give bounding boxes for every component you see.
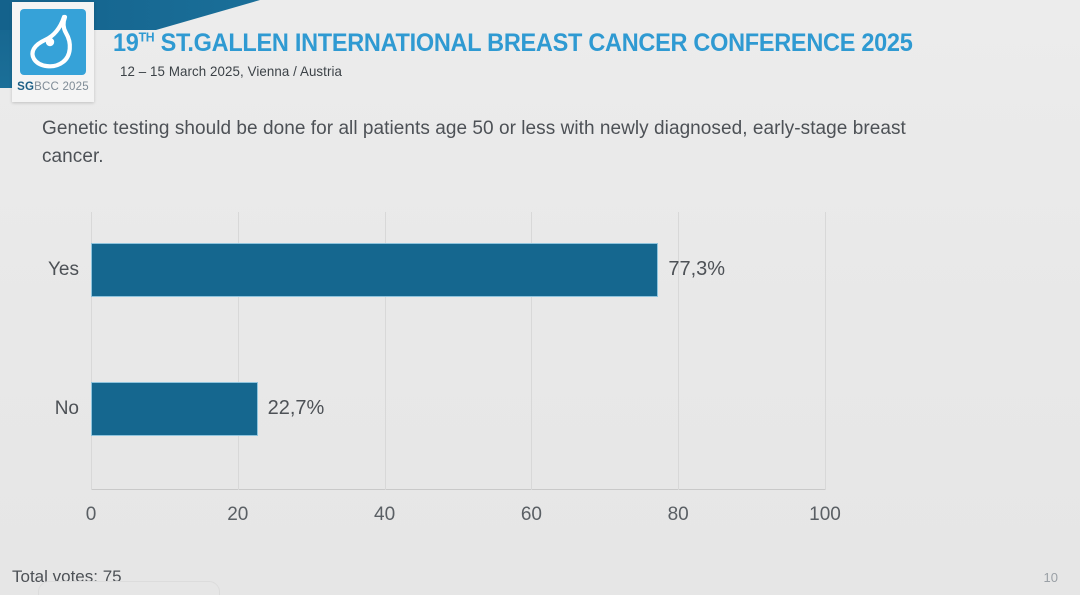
page-number: 10 [1044, 570, 1058, 585]
category-label-no: No [0, 382, 79, 436]
conference-title-rest: ST.GALLEN INTERNATIONAL BREAST CANCER CO… [154, 29, 912, 57]
x-tick-label: 40 [374, 504, 395, 526]
conference-logo: SGBCC 2025 [12, 2, 94, 102]
conference-title-number: 19 [113, 29, 139, 57]
logo-wordmark-rest: BCC 2025 [34, 81, 89, 93]
conference-title-ordinal: TH [139, 30, 155, 45]
x-tick-label: 0 [86, 504, 97, 526]
x-tick-label: 20 [227, 504, 248, 526]
x-tick-label: 80 [668, 504, 689, 526]
bar-value-label-yes: 77,3% [668, 258, 725, 281]
bar-value-label-no: 22,7% [268, 397, 325, 420]
chart-bar-row: 77,3% [91, 243, 725, 297]
conference-title: 19TH ST.GALLEN INTERNATIONAL BREAST CANC… [113, 29, 912, 58]
logo-wordmark-bold: SG [17, 81, 34, 93]
x-tick-label: 100 [809, 504, 841, 526]
slide-root: SGBCC 2025 19TH ST.GALLEN INTERNATIONAL … [0, 0, 1080, 595]
chart-bar-row: 22,7% [91, 382, 324, 436]
category-label-yes: Yes [0, 243, 79, 297]
logo-wordmark: SGBCC 2025 [17, 81, 89, 93]
gridline-100 [825, 212, 826, 490]
x-tick-label: 60 [521, 504, 542, 526]
bar-no [91, 382, 258, 436]
breast-outline-logo-icon [20, 9, 86, 75]
chart-plot-area: Yes77,3%No22,7% 020406080100 [91, 212, 825, 490]
bottom-control-outline [38, 581, 220, 595]
conference-subtitle: 12 – 15 March 2025, Vienna / Austria [120, 63, 342, 79]
chart-axis-baseline [91, 489, 825, 490]
bar-yes [91, 243, 658, 297]
poll-results-chart: Yes77,3%No22,7% 020406080100 [0, 190, 1080, 550]
poll-question: Genetic testing should be done for all p… [42, 115, 962, 171]
